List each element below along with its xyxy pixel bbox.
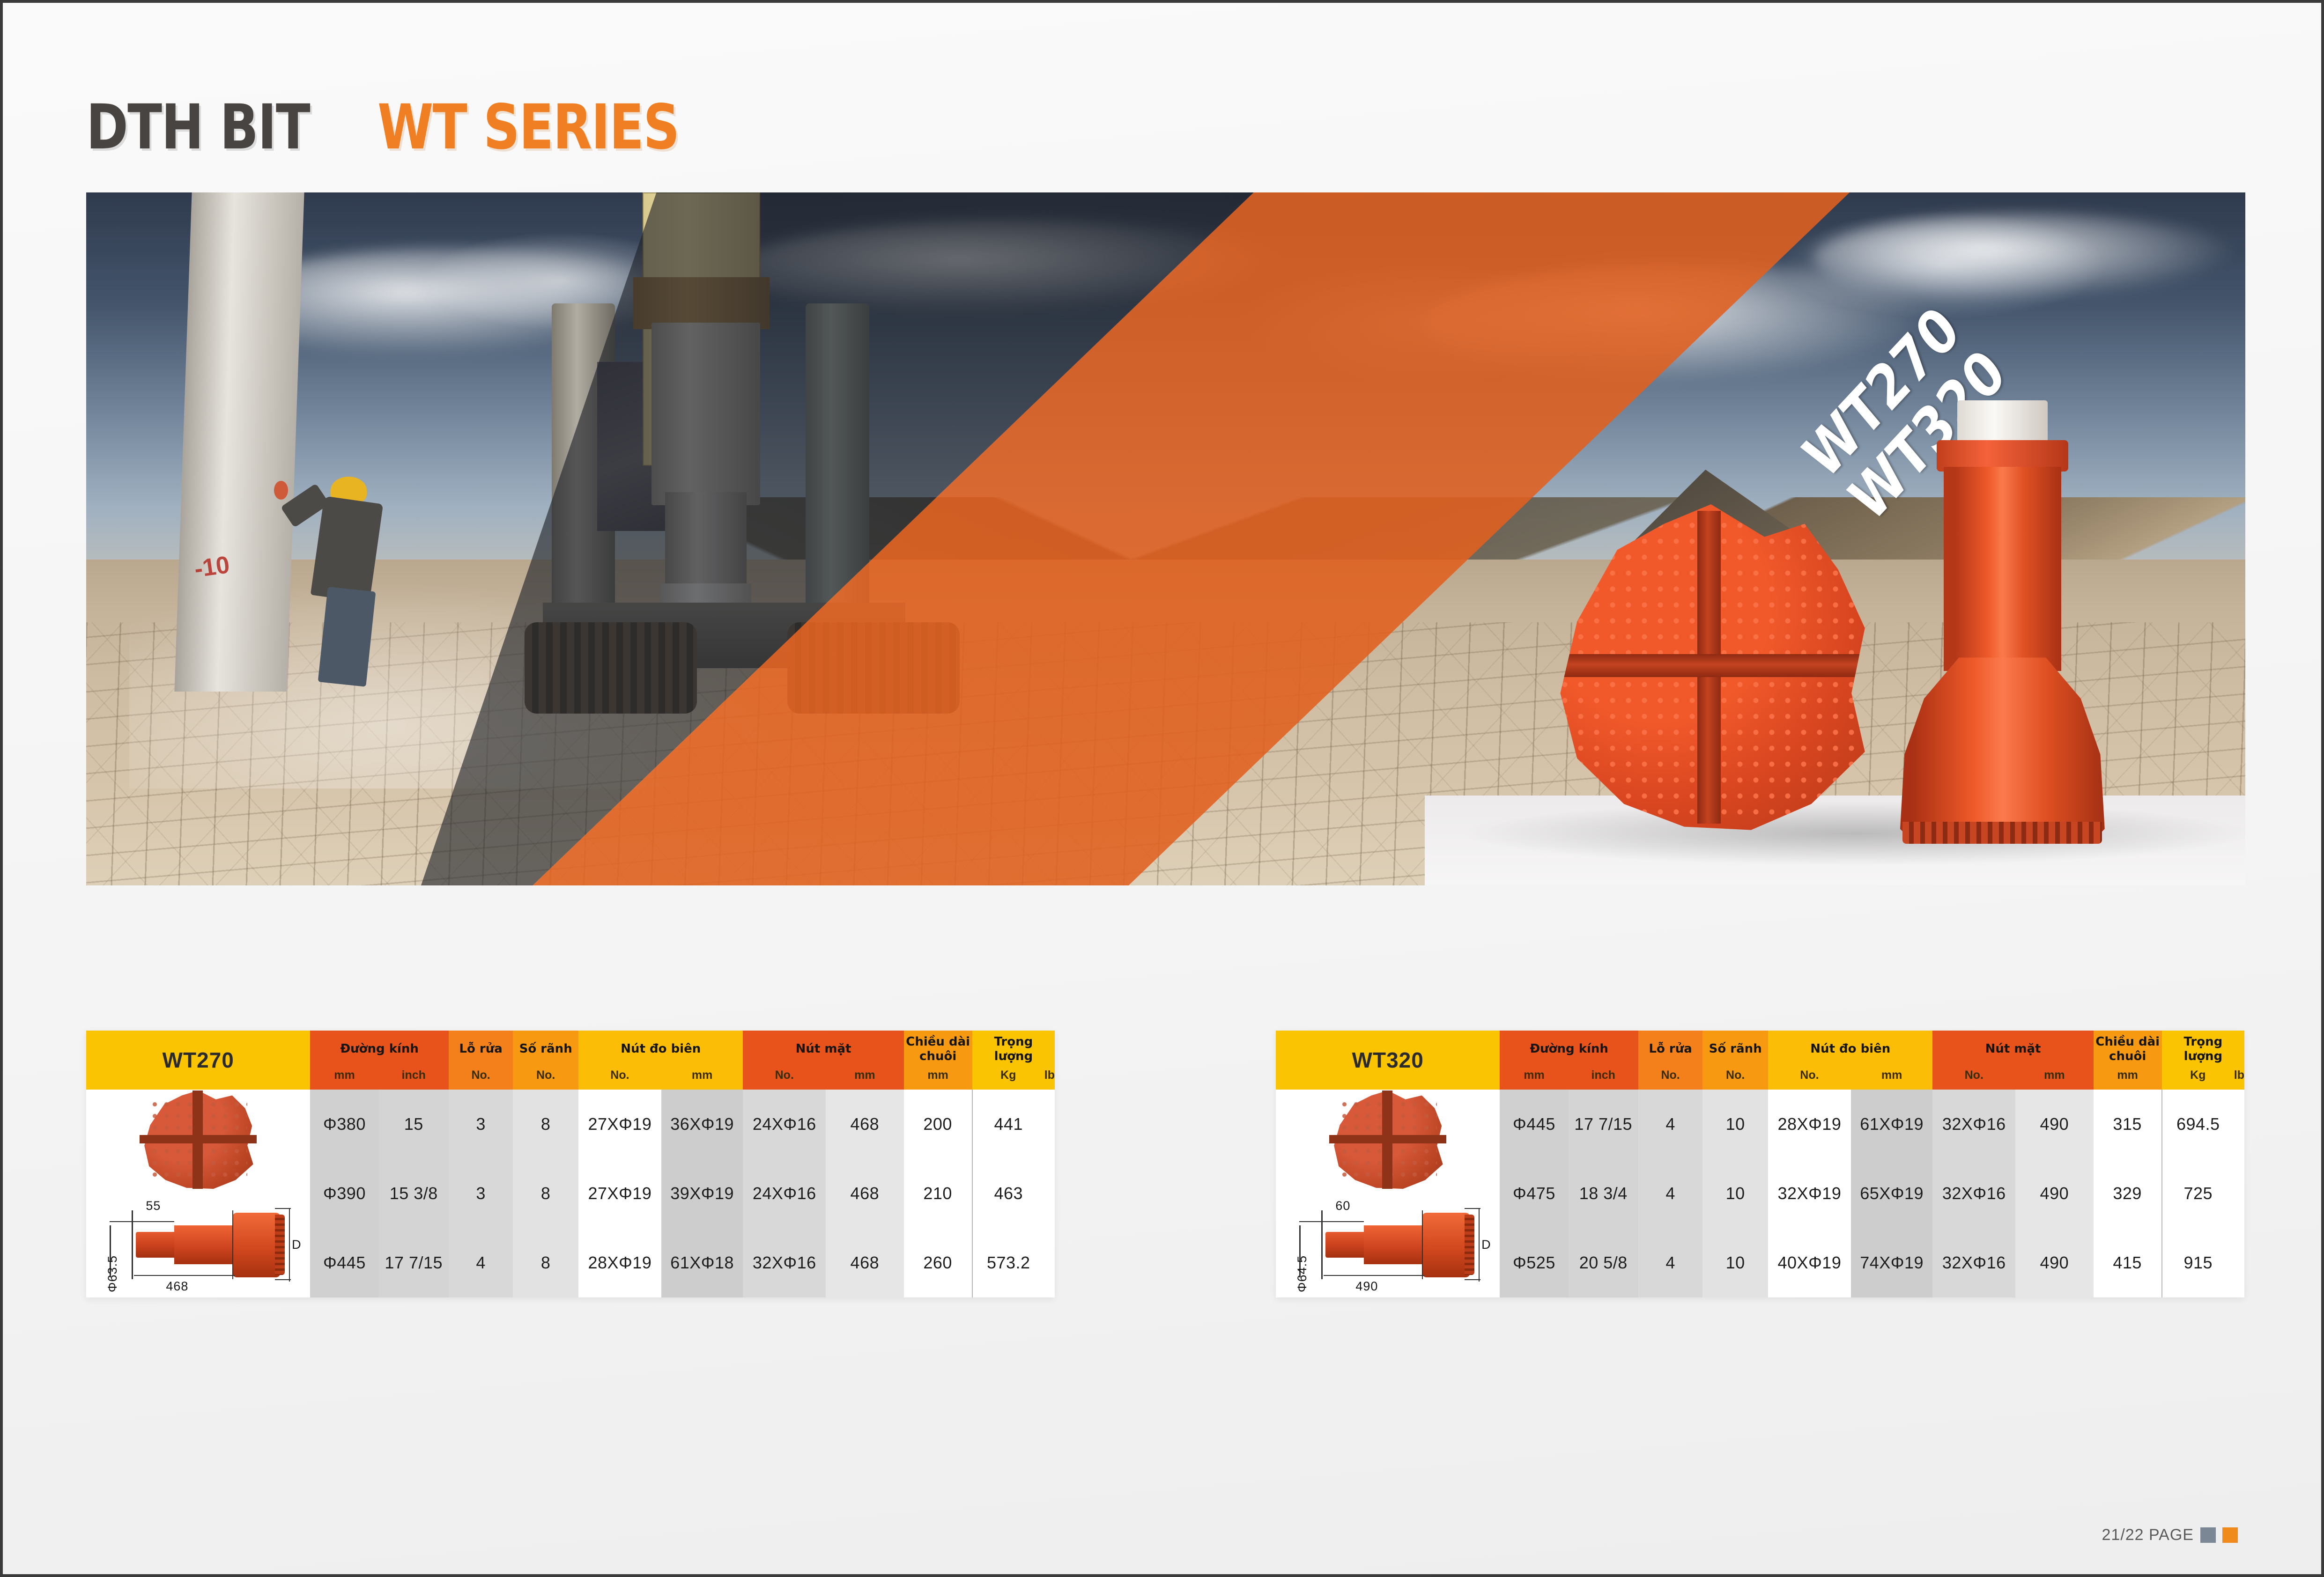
unit-lb: lb bbox=[2234, 1068, 2244, 1090]
worker-glove bbox=[274, 481, 288, 500]
col-face-button-header: Nút mặt bbox=[743, 1031, 903, 1068]
swatch-gray-icon bbox=[2200, 1527, 2216, 1543]
unit-inch: inch bbox=[1569, 1068, 1638, 1090]
unit-mm: mm bbox=[2094, 1068, 2162, 1090]
cell-diameter-mm: Φ445 bbox=[1500, 1090, 1568, 1159]
cell-weight-lb: 725 bbox=[2162, 1159, 2234, 1228]
dim-arrow-490 bbox=[1324, 1275, 1424, 1276]
unit-mm: mm bbox=[826, 1068, 904, 1090]
cell-grooves: 8 bbox=[513, 1228, 578, 1297]
bit-side-diagram: 60 490 Φ64.5 D bbox=[1287, 1189, 1488, 1297]
dim-label-diameter: Φ64.5 bbox=[1295, 1255, 1310, 1292]
bit-head bbox=[1894, 657, 2111, 844]
cell-weight-lb: 573.2 bbox=[972, 1228, 1044, 1297]
unit-mm: mm bbox=[904, 1068, 972, 1090]
unit-mm: mm bbox=[1500, 1068, 1568, 1090]
pile-marking: -10 bbox=[192, 551, 231, 583]
cell-shank-length: 468 bbox=[826, 1228, 904, 1297]
cell-diameter-in: 20 5/8 bbox=[1569, 1228, 1638, 1297]
diagram-head bbox=[1422, 1213, 1470, 1277]
unit-no: No. bbox=[1638, 1068, 1702, 1090]
dim-guide-right bbox=[289, 1208, 290, 1281]
unit-no: No. bbox=[743, 1068, 826, 1090]
worker-legs bbox=[318, 587, 376, 687]
dim-label-top: 60 bbox=[1335, 1199, 1350, 1213]
cell-diameter-mm: Φ445 bbox=[310, 1228, 378, 1297]
bit-gauge-row bbox=[1902, 822, 2102, 844]
unit-no: No. bbox=[513, 1068, 578, 1090]
col-gauge-button-header: Nút đo biên bbox=[1768, 1031, 1932, 1068]
cell-gauge-button: 28XΦ19 bbox=[1768, 1090, 1851, 1159]
cell-grooves: 8 bbox=[513, 1159, 578, 1228]
cell-flush-hole: 4 bbox=[449, 1228, 513, 1297]
diagram-shank bbox=[1325, 1232, 1370, 1258]
cell-gauge-button: 28XΦ19 bbox=[578, 1228, 661, 1297]
cell-face-button: 36XΦ19 bbox=[661, 1090, 743, 1159]
cell-weight-lb: 441 bbox=[972, 1090, 1044, 1159]
cell-gauge-button: 40XΦ19 bbox=[1768, 1228, 1851, 1297]
cell-weight-kg: 415 bbox=[2094, 1228, 2162, 1297]
worker-torso bbox=[311, 496, 383, 603]
diagram-midbody bbox=[1364, 1225, 1428, 1264]
diagram-midbody bbox=[174, 1225, 239, 1264]
cell-weight-kg: 315 bbox=[2094, 1090, 2162, 1159]
diagram-head bbox=[232, 1213, 281, 1277]
col-grooves-header: Số rãnh bbox=[1702, 1031, 1768, 1068]
unit-no: No. bbox=[578, 1068, 661, 1090]
cell-weight-kg: 260 bbox=[904, 1228, 972, 1297]
cell-gauge-button: 32XΦ19 bbox=[1768, 1159, 1851, 1228]
unit-no: No. bbox=[449, 1068, 513, 1090]
cell-spare-button: 32XΦ16 bbox=[1932, 1228, 2015, 1297]
worker-figure bbox=[313, 477, 382, 685]
cell-flush-hole: 3 bbox=[449, 1159, 513, 1228]
product-figure-cell: 55 468 Φ63.5 D bbox=[86, 1090, 310, 1297]
catalog-page: DTH BIT WT SERIES -10 bbox=[0, 0, 2324, 1577]
bit-side-diagram: 55 468 Φ63.5 D bbox=[97, 1189, 299, 1297]
diagram-crown bbox=[1465, 1215, 1475, 1275]
table-header-row: WT270 Đường kính Lỗ rửa Số rãnh Nút đo b… bbox=[86, 1031, 1055, 1068]
cell-diameter-in: 15 3/8 bbox=[379, 1159, 449, 1228]
dim-arrow-55 bbox=[134, 1221, 174, 1222]
dim-arrow-60 bbox=[1324, 1221, 1364, 1222]
cell-face-button: 39XΦ19 bbox=[661, 1159, 743, 1228]
dim-arrow-top bbox=[1299, 1221, 1324, 1222]
cell-face-button: 74XΦ19 bbox=[1851, 1228, 1933, 1297]
cloud-shape bbox=[1813, 213, 2245, 303]
dim-label-length: 490 bbox=[1355, 1279, 1378, 1294]
cell-flush-hole: 4 bbox=[1638, 1090, 1702, 1159]
cell-flush-hole: 4 bbox=[1638, 1228, 1702, 1297]
diagram-crown bbox=[275, 1215, 285, 1275]
page-title-secondary: WT SERIES bbox=[377, 96, 679, 158]
col-flush-hole-header: Lỗ rửa bbox=[1638, 1031, 1702, 1068]
table-row: 60 490 Φ64.5 D Φ445 17 7/15 4 10 28XΦ19 … bbox=[1276, 1090, 2244, 1159]
unit-lb: lb bbox=[1044, 1068, 1055, 1090]
cell-diameter-in: 17 7/15 bbox=[379, 1228, 449, 1297]
cell-grooves: 10 bbox=[1702, 1090, 1768, 1159]
col-diameter-header: Đường kính bbox=[1500, 1031, 1638, 1068]
unit-no: No. bbox=[1702, 1068, 1768, 1090]
bit-shank bbox=[1957, 400, 2048, 445]
unit-no: No. bbox=[1932, 1068, 2015, 1090]
col-gauge-button-header: Nút đo biên bbox=[578, 1031, 743, 1068]
dim-arrow-d-top bbox=[275, 1208, 291, 1209]
cell-shank-length: 468 bbox=[826, 1090, 904, 1159]
page-title-primary: DTH BIT bbox=[86, 96, 310, 158]
cell-flush-hole: 4 bbox=[1638, 1159, 1702, 1228]
col-grooves-header: Số rãnh bbox=[513, 1031, 578, 1068]
product-shadow bbox=[1468, 802, 2245, 864]
unit-mm: mm bbox=[2015, 1068, 2094, 1090]
cell-diameter-in: 17 7/15 bbox=[1569, 1090, 1638, 1159]
table-header-row: WT320 Đường kính Lỗ rửa Số rãnh Nút đo b… bbox=[1276, 1031, 2244, 1068]
cell-diameter-in: 15 bbox=[379, 1090, 449, 1159]
cell-face-button: 65XΦ19 bbox=[1851, 1159, 1933, 1228]
cell-weight-lb: 915 bbox=[2162, 1228, 2234, 1297]
col-diameter-header: Đường kính bbox=[310, 1031, 449, 1068]
cell-gauge-button: 27XΦ19 bbox=[578, 1090, 661, 1159]
swatch-orange-icon bbox=[2222, 1527, 2238, 1543]
cell-shank-length: 468 bbox=[826, 1159, 904, 1228]
model-name-cell: WT320 bbox=[1276, 1031, 1500, 1090]
cell-weight-lb: 694.5 bbox=[2162, 1090, 2234, 1159]
unit-mm: mm bbox=[661, 1068, 743, 1090]
dim-label-top: 55 bbox=[146, 1199, 161, 1213]
unit-kg: Kg bbox=[2162, 1068, 2234, 1090]
cell-diameter-mm: Φ475 bbox=[1500, 1159, 1568, 1228]
product-figure-cell: 60 490 Φ64.5 D bbox=[1276, 1090, 1500, 1297]
cell-diameter-in: 18 3/4 bbox=[1569, 1159, 1638, 1228]
cell-shank-length: 490 bbox=[2015, 1090, 2094, 1159]
cell-weight-kg: 329 bbox=[2094, 1159, 2162, 1228]
cell-spare-button: 32XΦ16 bbox=[1932, 1159, 2015, 1228]
unit-mm: mm bbox=[1851, 1068, 1933, 1090]
col-face-button-header: Nút mặt bbox=[1932, 1031, 2093, 1068]
cell-grooves: 10 bbox=[1702, 1159, 1768, 1228]
cell-weight-kg: 200 bbox=[904, 1090, 972, 1159]
page-footer: 21/22 PAGE bbox=[2102, 1526, 2238, 1544]
flush-groove-horizontal bbox=[1550, 654, 1872, 677]
col-shank-length-header: Chiều dài chuôi bbox=[2094, 1031, 2162, 1068]
col-weight-header: Trọng lượng bbox=[2162, 1031, 2244, 1068]
cell-diameter-mm: Φ390 bbox=[310, 1159, 378, 1228]
dim-guide-head bbox=[1422, 1210, 1423, 1279]
cell-face-button: 61XΦ19 bbox=[1851, 1090, 1933, 1159]
dim-label-d: D bbox=[1481, 1238, 1491, 1252]
cell-spare-button: 24XΦ16 bbox=[743, 1090, 826, 1159]
cell-grooves: 10 bbox=[1702, 1228, 1768, 1297]
cell-diameter-mm: Φ525 bbox=[1500, 1228, 1568, 1297]
cell-shank-length: 490 bbox=[2015, 1228, 2094, 1297]
col-shank-length-header: Chiều dài chuôi bbox=[904, 1031, 972, 1068]
bit-face-diagram bbox=[1329, 1091, 1446, 1189]
cell-gauge-button: 27XΦ19 bbox=[578, 1159, 661, 1228]
dim-arrow-d-top bbox=[1465, 1208, 1480, 1209]
dim-arrow-468 bbox=[134, 1275, 235, 1276]
dim-label-length: 468 bbox=[166, 1279, 188, 1294]
unit-kg: Kg bbox=[972, 1068, 1044, 1090]
bit-face-groove-horizontal bbox=[140, 1135, 257, 1144]
unit-no: No. bbox=[1768, 1068, 1851, 1090]
cell-weight-lb: 463 bbox=[972, 1159, 1044, 1228]
cell-diameter-mm: Φ380 bbox=[310, 1090, 378, 1159]
cell-face-button: 61XΦ18 bbox=[661, 1228, 743, 1297]
page-number: 21/22 PAGE bbox=[2102, 1526, 2194, 1544]
dim-arrow-d-bottom bbox=[275, 1279, 291, 1280]
dim-label-d: D bbox=[292, 1238, 302, 1252]
cell-grooves: 8 bbox=[513, 1090, 578, 1159]
cell-shank-length: 490 bbox=[2015, 1159, 2094, 1228]
cell-flush-hole: 3 bbox=[449, 1090, 513, 1159]
cell-spare-button: 32XΦ16 bbox=[1932, 1090, 2015, 1159]
col-flush-hole-header: Lỗ rửa bbox=[449, 1031, 513, 1068]
cell-weight-kg: 210 bbox=[904, 1159, 972, 1228]
dim-label-diameter: Φ63.5 bbox=[105, 1255, 120, 1292]
dim-arrow-d-bottom bbox=[1465, 1279, 1480, 1280]
bit-shaft bbox=[1944, 467, 2062, 671]
hero-banner: -10 WT270 WT320 bbox=[86, 192, 2245, 885]
col-weight-header: Trọng lượng bbox=[972, 1031, 1055, 1068]
bit-face-diagram bbox=[140, 1091, 257, 1189]
dim-arrow-top bbox=[110, 1221, 134, 1222]
unit-mm: mm bbox=[310, 1068, 378, 1090]
diagram-shank bbox=[136, 1232, 180, 1258]
unit-inch: inch bbox=[379, 1068, 449, 1090]
spec-table-wt270: WT270 Đường kính Lỗ rửa Số rãnh Nút đo b… bbox=[86, 1031, 1055, 1297]
product-bit-side-photo bbox=[1889, 400, 2116, 844]
page-title: DTH BIT WT SERIES bbox=[86, 96, 745, 158]
cell-spare-button: 32XΦ16 bbox=[743, 1228, 826, 1297]
dim-guide-right bbox=[1479, 1208, 1480, 1281]
table-row: 55 468 Φ63.5 D Φ380 15 3 8 27XΦ19 36XΦ19… bbox=[86, 1090, 1055, 1159]
concrete-pile bbox=[175, 192, 304, 692]
bit-face-groove-horizontal bbox=[1329, 1135, 1446, 1144]
cell-spare-button: 24XΦ16 bbox=[743, 1159, 826, 1228]
spec-table-wt320: WT320 Đường kính Lỗ rửa Số rãnh Nút đo b… bbox=[1276, 1031, 2244, 1297]
model-name-cell: WT270 bbox=[86, 1031, 310, 1090]
dim-guide-head bbox=[232, 1210, 233, 1279]
